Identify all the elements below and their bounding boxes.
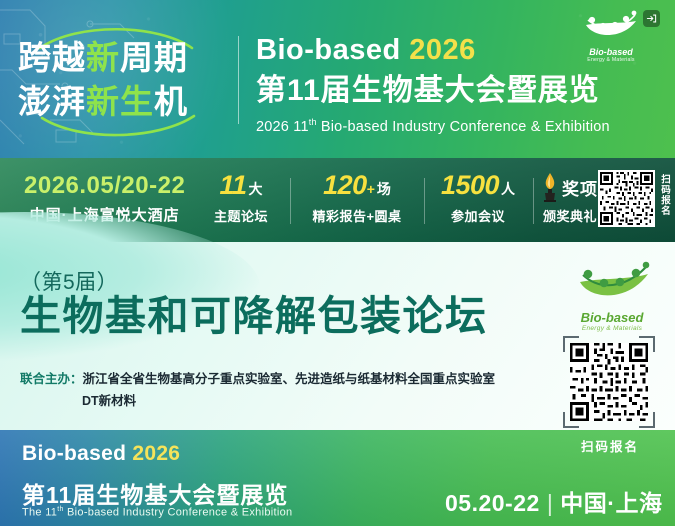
hero-vertical-divider xyxy=(238,36,239,124)
footer-brand-line: Bio-based 2026 xyxy=(22,442,180,466)
biobased-leaf-molecule-icon xyxy=(578,8,644,42)
stat-attendees-number: 1500 xyxy=(441,170,499,200)
stat-divider-1 xyxy=(290,178,291,224)
award-block: 奖项 颁奖典礼 xyxy=(542,172,598,225)
footer-location: 中国·上海 xyxy=(560,490,662,516)
stat-attendees-top: 1500人 xyxy=(430,172,526,199)
stat-reports-top: 120+场 xyxy=(300,172,414,199)
co-organizers-key: 联合主办： xyxy=(20,372,83,386)
stat-forums-unit: 大 xyxy=(249,181,263,197)
hero-english-subtitle: 2026 11th Bio-based Industry Conference … xyxy=(256,117,656,135)
hero-en-post: Bio-based Industry Conference & Exhibiti… xyxy=(317,118,610,134)
biobased-logo-top-tagline: Energy & Materials xyxy=(578,57,644,63)
stat-forums-label: 主题论坛 xyxy=(206,206,276,225)
stat-divider-2 xyxy=(424,178,425,224)
slogan-1b: 周期 xyxy=(120,39,188,76)
slogan-line-2: 澎湃新生机 xyxy=(18,80,238,124)
footer-date: 05.20-22 xyxy=(445,490,540,516)
stat-attendees-unit: 人 xyxy=(501,181,515,197)
stats-qr-label: 扫码报名 xyxy=(658,174,670,216)
stat-attendees-label: 参加会议 xyxy=(430,206,526,225)
hero-brand: Bio-based xyxy=(256,34,401,66)
hero-year: 2026 xyxy=(409,34,476,66)
biobased-logo-top-name: Bio-based xyxy=(578,48,644,57)
footer-english-subtitle: The 11th Bio-based Industry Conference &… xyxy=(22,506,292,519)
biobased-leaf-molecule-icon xyxy=(566,258,658,304)
award-label: 颁奖典礼 xyxy=(542,206,598,225)
slogan-1a: 跨越 xyxy=(18,39,86,76)
footer-year: 2026 xyxy=(132,442,180,465)
biobased-logo-top: Bio-based Energy & Materials xyxy=(578,8,644,60)
footer-en-pre: The 11 xyxy=(22,507,57,519)
stat-reports-plus: + xyxy=(367,181,375,197)
conference-poster: 跨越新周期 澎湃新生机 Bio-based 2026 第11届生物基大会暨展览 … xyxy=(0,0,675,526)
trophy-icon xyxy=(542,172,558,202)
co-organizers-line-2: DT新材料 xyxy=(82,391,540,413)
slogan-2-accent-1: 新 xyxy=(86,83,120,120)
footer-en-post: Bio-based Industry Conference & Exhibiti… xyxy=(64,507,293,519)
stat-reports: 120+场 精彩报告+圆桌 xyxy=(300,172,414,225)
stat-reports-unit: 场 xyxy=(377,181,391,197)
slogan-1-accent: 新 xyxy=(86,39,120,76)
co-organizers: 联合主办：浙江省全省生物基高分子重点实验室、先进造纸与纸基材料全国重点实验室 D… xyxy=(20,369,540,413)
forum-title: 生物基和可降解包装论坛 xyxy=(20,296,488,337)
stat-divider-3 xyxy=(533,178,534,224)
footer-date-location: 05.20-22|中国·上海 xyxy=(445,484,662,518)
award-name: 奖项 xyxy=(562,175,598,200)
slogan-2b: 机 xyxy=(154,83,188,120)
stat-forums-number: 11 xyxy=(219,170,246,200)
biobased-logo-middle-name: Bio-based xyxy=(566,311,658,324)
stats-qr-code[interactable] xyxy=(598,170,655,227)
footer-chinese-title: 第11届生物基大会暨展览 xyxy=(22,476,288,510)
stat-reports-number: 120 xyxy=(323,170,367,200)
forum-qr-code[interactable] xyxy=(563,336,655,428)
biobased-logo-middle: Bio-based Energy & Materials xyxy=(566,258,658,332)
stat-forums: 11大 主题论坛 xyxy=(206,172,276,225)
footer-qr-label: 扫码报名 xyxy=(566,436,654,455)
hero-banner: 跨越新周期 澎湃新生机 Bio-based 2026 第11届生物基大会暨展览 … xyxy=(0,0,675,158)
login-button[interactable] xyxy=(643,10,660,27)
footer-band: Bio-based 2026 第11届生物基大会暨展览 The 11th Bio… xyxy=(0,430,675,526)
forum-issue-number: （第5届） xyxy=(20,266,118,296)
slogan-2a: 澎湃 xyxy=(18,83,86,120)
slogan: 跨越新周期 澎湃新生机 xyxy=(18,36,238,124)
award-row: 奖项 xyxy=(542,172,598,202)
hero-en-sup: th xyxy=(309,117,317,127)
forum-section: （第5届） 生物基和可降解包装论坛 联合主办：浙江省全省生物基高分子重点实验室、… xyxy=(0,242,675,430)
slogan-2-accent-2: 生 xyxy=(120,83,154,120)
qr-code-icon xyxy=(600,172,653,225)
footer-divider: | xyxy=(547,490,553,516)
qr-code-icon xyxy=(570,343,648,421)
footer-brand: Bio-based xyxy=(22,442,126,465)
stat-attendees: 1500人 参加会议 xyxy=(430,172,526,225)
login-arrow-icon xyxy=(646,13,657,24)
stat-forums-top: 11大 xyxy=(206,172,276,199)
hero-en-pre: 2026 11 xyxy=(256,118,309,134)
co-organizers-line-1: 浙江省全省生物基高分子重点实验室、先进造纸与纸基材料全国重点实验室 xyxy=(83,372,496,386)
event-date: 2026.05/20-22 xyxy=(24,172,185,200)
slogan-line-1: 跨越新周期 xyxy=(18,36,238,80)
hero-chinese-title: 第11届生物基大会暨展览 xyxy=(256,74,656,109)
stat-reports-label: 精彩报告+圆桌 xyxy=(300,206,414,225)
biobased-logo-middle-tagline: Energy & Materials xyxy=(566,325,658,332)
